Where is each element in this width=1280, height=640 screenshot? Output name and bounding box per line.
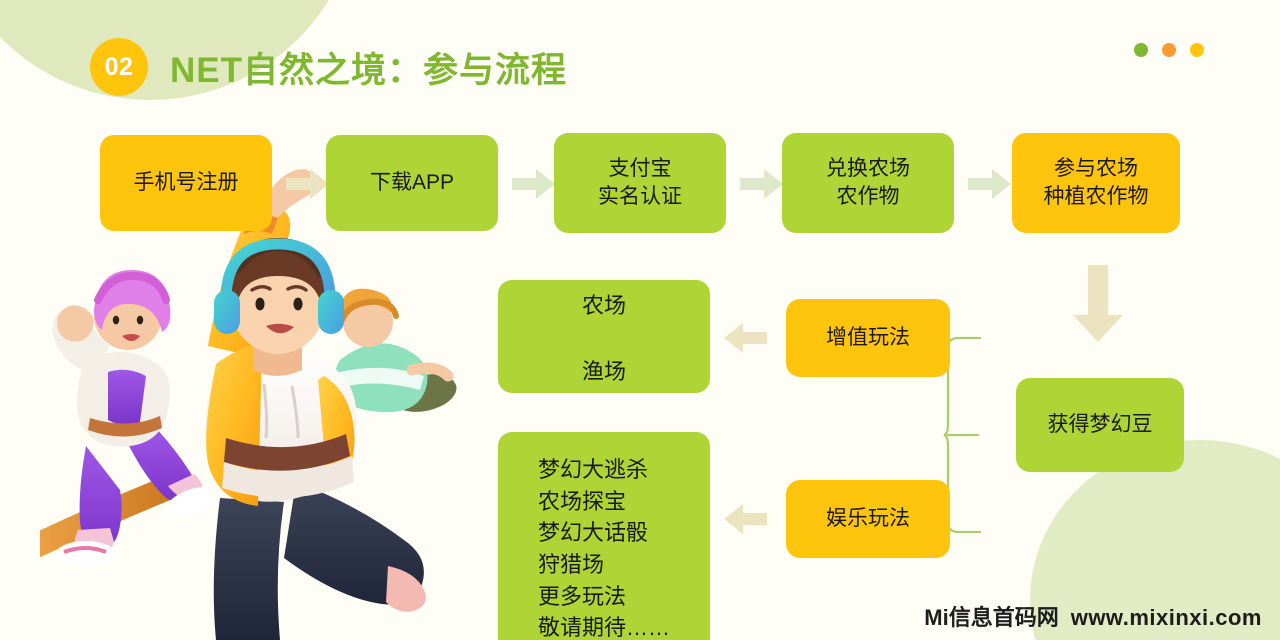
section-number-badge: 02: [90, 38, 148, 96]
arrow-value-to-farm-left: [722, 322, 768, 354]
flow-box-label-line2: 实名认证: [598, 183, 682, 211]
dot-orange-icon: [1162, 43, 1176, 57]
arrow-plant-to-reward-down: [1072, 265, 1124, 343]
list-item: 农场探宝: [538, 486, 710, 518]
arrow-exchange-to-plant: [968, 168, 1012, 200]
flow-box-value-added-playstyle[interactable]: 增值玩法: [786, 299, 950, 377]
flow-box-label-line1: 兑换农场: [826, 155, 910, 183]
flow-box-label: 手机号注册: [134, 169, 239, 197]
flow-box-entertainment-games-list[interactable]: 梦幻大逃杀 农场探宝 梦幻大话骰 狩猎场 更多玩法 敬请期待……: [498, 432, 710, 640]
list-item: 梦幻大话骰: [538, 517, 710, 549]
watermark: Mi信息首码网 www.mixinxi.com: [924, 600, 1262, 632]
flow-box-label: 获得梦幻豆: [1048, 411, 1153, 439]
flow-box-farm-fishery[interactable]: 农场 渔场: [498, 280, 710, 393]
slide-header: 02 NET自然之境：参与流程: [90, 38, 567, 96]
flow-box-alipay-verification[interactable]: 支付宝 实名认证: [554, 133, 726, 233]
list-item: 农场: [582, 288, 626, 320]
flow-box-get-dream-beans[interactable]: 获得梦幻豆: [1016, 378, 1184, 472]
flow-box-label: 娱乐玩法: [826, 505, 910, 533]
page-title: NET自然之境：参与流程: [170, 42, 567, 93]
arrow-alipay-to-exchange: [740, 168, 784, 200]
arrow-entertainment-to-games-left: [722, 503, 768, 535]
arrow-download-to-alipay: [512, 168, 556, 200]
character-left: [40, 270, 219, 567]
flow-box-entertainment-playstyle[interactable]: 娱乐玩法: [786, 480, 950, 558]
flow-box-label-line2: 种植农作物: [1044, 183, 1149, 211]
bracket-connector: [938, 336, 1018, 539]
list-item: 狩猎场: [538, 549, 710, 581]
decorative-dots: [1134, 43, 1204, 57]
list-item: 敬请期待……: [538, 612, 710, 640]
watermark-site-name: Mi信息首码网: [924, 600, 1058, 632]
flow-box-exchange-crops[interactable]: 兑换农场 农作物: [782, 133, 954, 233]
dot-yellow-icon: [1190, 43, 1204, 57]
flow-box-register[interactable]: 手机号注册: [100, 135, 272, 231]
flow-box-label: 下载APP: [370, 169, 454, 197]
flow-box-plant-crops[interactable]: 参与农场 种植农作物: [1012, 133, 1180, 233]
flow-box-label-line1: 参与农场: [1054, 155, 1138, 183]
flow-box-download-app[interactable]: 下载APP: [326, 135, 498, 231]
watermark-url: www.mixinxi.com: [1071, 605, 1262, 631]
list-item: 渔场: [582, 354, 626, 386]
list-item: 更多玩法: [538, 581, 710, 613]
flow-box-label-line1: 支付宝: [609, 155, 672, 183]
flow-box-label-line2: 农作物: [837, 183, 900, 211]
flow-box-label: 增值玩法: [826, 324, 910, 352]
arrow-register-to-download: [286, 168, 330, 200]
list-item: 梦幻大逃杀: [538, 454, 710, 486]
slide-canvas: 02 NET自然之境：参与流程 手机号注册 下载APP 支付宝 实名认证 兑换农…: [0, 0, 1280, 640]
dot-green-icon: [1134, 43, 1148, 57]
